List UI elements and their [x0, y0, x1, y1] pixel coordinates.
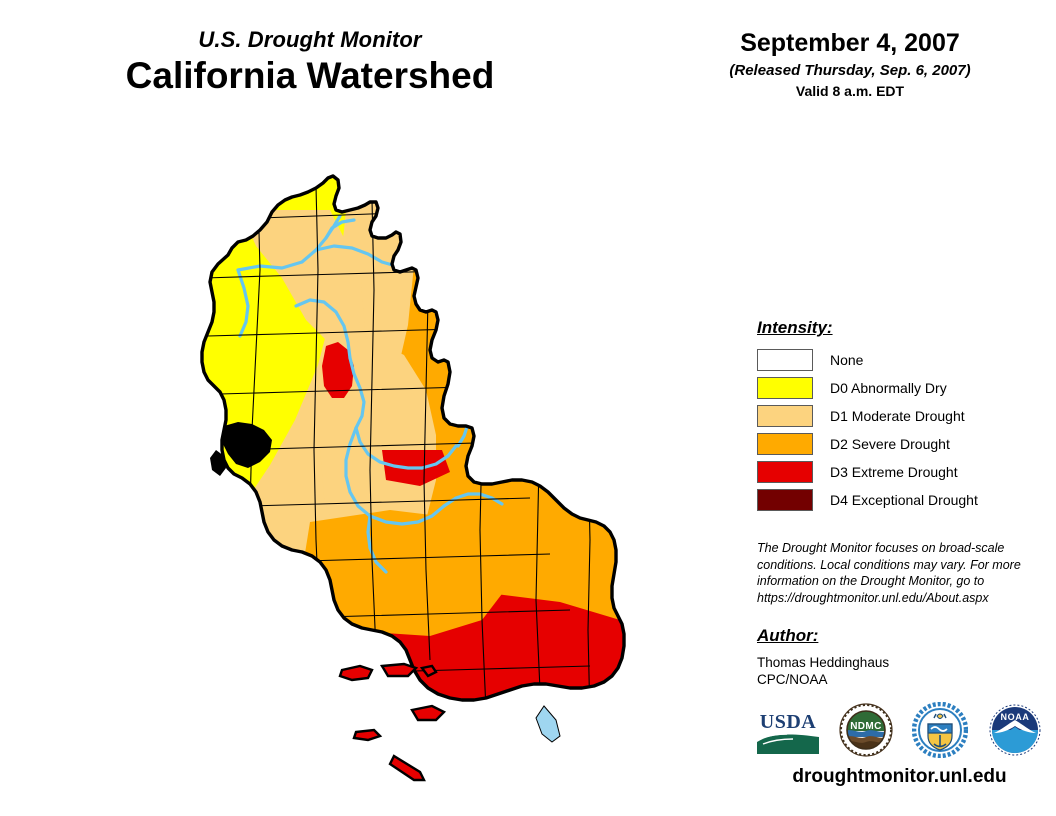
author-block: Author: Thomas Heddinghaus CPC/NOAA: [757, 626, 1037, 689]
legend-label-none: None: [830, 352, 863, 368]
author-name: Thomas Heddinghaus: [757, 654, 1037, 671]
legend-swatch-d4: [757, 489, 813, 511]
title-block: U.S. Drought Monitor California Watershe…: [0, 28, 620, 98]
legend-swatch-d3: [757, 461, 813, 483]
legend-swatch-d1: [757, 405, 813, 427]
legend-label-d0: D0 Abnormally Dry: [830, 380, 947, 396]
legend-swatch-none: [757, 349, 813, 371]
disclaimer-link[interactable]: https://droughtmonitor.unl.edu/About.asp…: [757, 590, 1025, 607]
noaa-logo[interactable]: NOAA: [988, 703, 1042, 762]
legend-title: Intensity:: [757, 318, 1037, 338]
legend-label-d2: D2 Severe Drought: [830, 436, 950, 452]
date-block: September 4, 2007 (Released Thursday, Se…: [670, 30, 1030, 99]
legend-item-d0[interactable]: D0 Abnormally Dry: [757, 375, 1037, 400]
legend-label-d4: D4 Exceptional Drought: [830, 492, 978, 508]
california-watershed-drought-map[interactable]: [120, 150, 740, 790]
legend-item-d4[interactable]: D4 Exceptional Drought: [757, 487, 1037, 512]
usda-logo[interactable]: USDA: [757, 706, 819, 759]
legend-item-none[interactable]: None: [757, 347, 1037, 372]
website-url[interactable]: droughtmonitor.unl.edu: [757, 766, 1042, 788]
disclaimer-line-3: information on the Drought Monitor, go t…: [757, 573, 1025, 590]
disclaimer-line-1: The Drought Monitor focuses on broad-sca…: [757, 540, 1025, 557]
svg-text:NOAA: NOAA: [1001, 712, 1030, 722]
legend: Intensity: None D0 Abnormally Dry D1 Mod…: [757, 318, 1037, 515]
page-title: California Watershed: [0, 55, 620, 98]
valid-time: Valid 8 a.m. EDT: [670, 84, 1030, 99]
usda-seal-logo[interactable]: [912, 702, 968, 763]
legend-label-d1: D1 Moderate Drought: [830, 408, 965, 424]
program-subtitle: U.S. Drought Monitor: [0, 28, 620, 52]
author-heading: Author:: [757, 626, 1037, 646]
author-affiliation: CPC/NOAA: [757, 671, 1037, 688]
legend-item-d3[interactable]: D3 Extreme Drought: [757, 459, 1037, 484]
valid-date: September 4, 2007: [670, 30, 1030, 58]
svg-text:NDMC: NDMC: [850, 721, 882, 732]
legend-swatch-d2: [757, 433, 813, 455]
ndmc-logo[interactable]: NDMC: [839, 703, 893, 762]
partner-logos: USDA NDMC: [757, 703, 1042, 761]
legend-swatch-d0: [757, 377, 813, 399]
disclaimer-line-2: conditions. Local conditions may vary. F…: [757, 557, 1025, 574]
disclaimer-text: The Drought Monitor focuses on broad-sca…: [757, 540, 1025, 606]
svg-text:USDA: USDA: [760, 711, 817, 733]
legend-label-d3: D3 Extreme Drought: [830, 464, 958, 480]
legend-item-d1[interactable]: D1 Moderate Drought: [757, 403, 1037, 428]
release-date: (Released Thursday, Sep. 6, 2007): [670, 63, 1030, 80]
legend-item-d2[interactable]: D2 Severe Drought: [757, 431, 1037, 456]
